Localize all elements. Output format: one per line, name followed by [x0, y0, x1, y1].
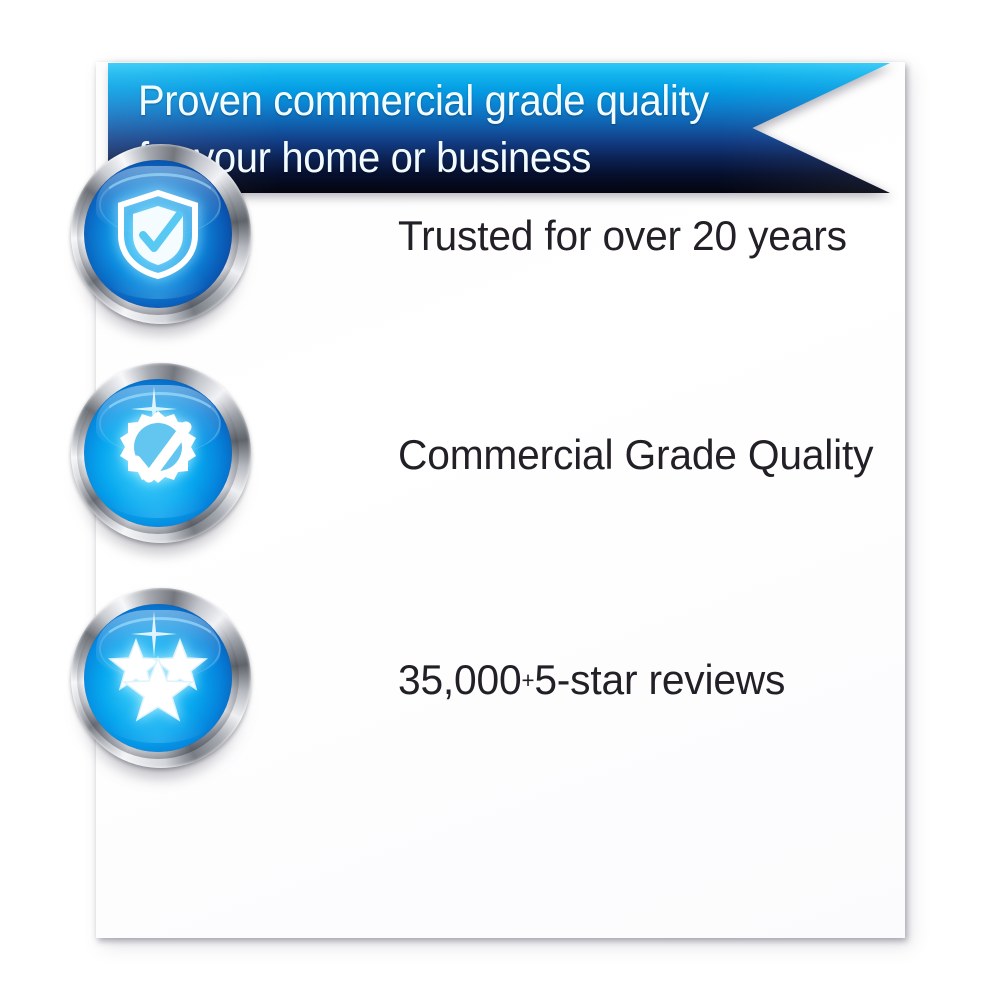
feature-label: Commercial Grade Quality [398, 363, 873, 547]
badge-gear [68, 363, 252, 547]
badge-shield [68, 144, 252, 328]
feature-row: Commercial Grade Quality [0, 363, 1000, 563]
feature-label-text: Trusted for over 20 years [398, 212, 847, 260]
feature-row: 35,000+ 5-star reviews [0, 588, 1000, 788]
feature-label: 35,000+ 5-star reviews [398, 588, 785, 772]
gear-check-icon [84, 379, 232, 527]
feature-label-count: 35,000 [398, 656, 521, 704]
badge-stars [68, 588, 252, 772]
badge-blue-dome [84, 604, 232, 752]
feature-row: Trusted for over 20 years [0, 144, 1000, 344]
promo-graphic: Proven commercial grade quality for your… [0, 0, 1000, 1000]
shield-check-icon [84, 160, 232, 308]
feature-label-text: 5-star reviews [534, 656, 785, 704]
three-stars-icon [84, 604, 232, 752]
feature-label: Trusted for over 20 years [398, 144, 847, 328]
badge-blue-dome [84, 160, 232, 308]
badge-blue-dome [84, 379, 232, 527]
feature-label-text: Commercial Grade Quality [398, 431, 873, 479]
